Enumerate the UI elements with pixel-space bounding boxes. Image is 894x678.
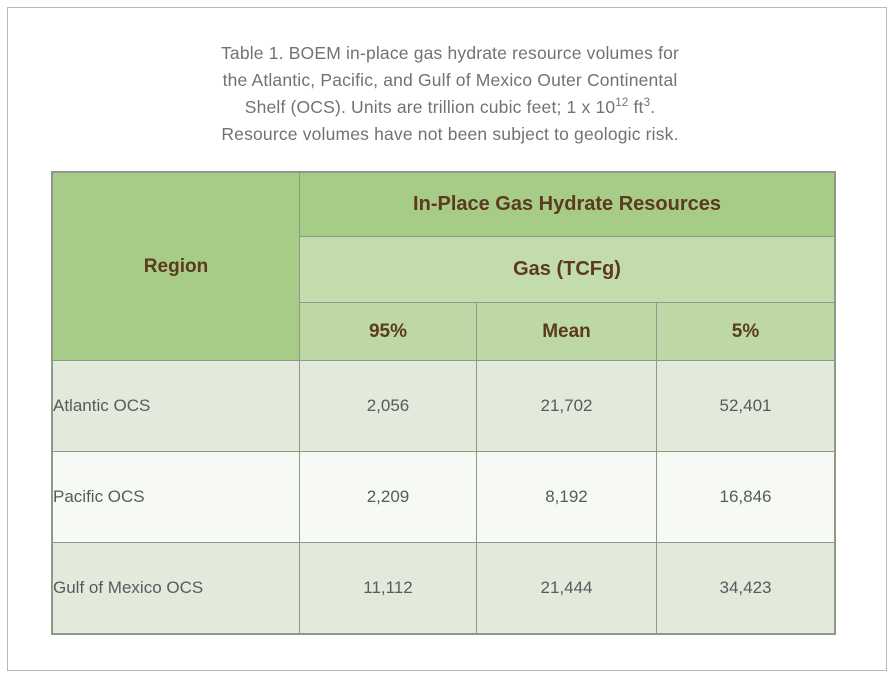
cell-pacific-p5: 16,846 — [657, 452, 835, 543]
header-percentile-95: 95% — [300, 303, 477, 361]
header-mean: Mean — [477, 303, 657, 361]
cell-pacific-mean: 8,192 — [477, 452, 657, 543]
caption-exponent-twelve: 12 — [615, 97, 628, 109]
caption-line-1: Table 1. BOEM in-place gas hydrate resou… — [221, 43, 679, 63]
table-caption: Table 1. BOEM in-place gas hydrate resou… — [120, 40, 780, 148]
table-row: Pacific OCS 2,209 8,192 16,846 — [53, 452, 835, 543]
table-header: Region In-Place Gas Hydrate Resources Ga… — [53, 173, 835, 361]
cell-gulf-p5: 34,423 — [657, 543, 835, 634]
caption-line-3-part-b: ft — [628, 97, 643, 117]
table-row: Atlantic OCS 2,056 21,702 52,401 — [53, 361, 835, 452]
cell-region-atlantic: Atlantic OCS — [53, 361, 300, 452]
cell-pacific-p95: 2,209 — [300, 452, 477, 543]
cell-gulf-p95: 11,112 — [300, 543, 477, 634]
header-gas-tcfg: Gas (TCFg) — [300, 237, 835, 303]
header-row-group: Region In-Place Gas Hydrate Resources — [53, 173, 835, 237]
table-body: Atlantic OCS 2,056 21,702 52,401 Pacific… — [53, 361, 835, 634]
cell-atlantic-mean: 21,702 — [477, 361, 657, 452]
caption-line-3-part-c: . — [650, 97, 655, 117]
header-in-place-gas-hydrate-resources: In-Place Gas Hydrate Resources — [300, 173, 835, 237]
caption-line-3-part-a: Shelf (OCS). Units are trillion cubic fe… — [245, 97, 616, 117]
resource-table: Region In-Place Gas Hydrate Resources Ga… — [52, 172, 835, 634]
page-root: Table 1. BOEM in-place gas hydrate resou… — [0, 0, 894, 678]
cell-region-gulf-of-mexico: Gulf of Mexico OCS — [53, 543, 300, 634]
table-row: Gulf of Mexico OCS 11,112 21,444 34,423 — [53, 543, 835, 634]
header-percentile-5: 5% — [657, 303, 835, 361]
cell-atlantic-p95: 2,056 — [300, 361, 477, 452]
cell-atlantic-p5: 52,401 — [657, 361, 835, 452]
cell-gulf-mean: 21,444 — [477, 543, 657, 634]
resource-table-container: Region In-Place Gas Hydrate Resources Ga… — [52, 172, 834, 634]
caption-line-2: the Atlantic, Pacific, and Gulf of Mexic… — [223, 70, 678, 90]
header-region: Region — [53, 173, 300, 361]
cell-region-pacific: Pacific OCS — [53, 452, 300, 543]
caption-line-4: Resource volumes have not been subject t… — [221, 124, 678, 144]
